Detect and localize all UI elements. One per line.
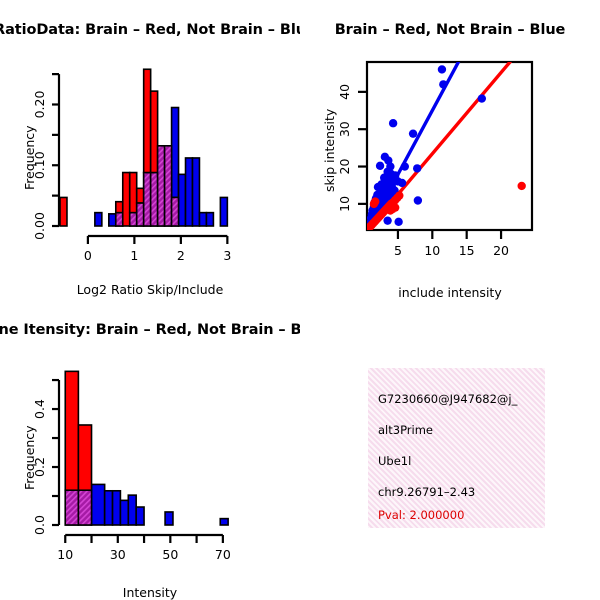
info-line-event: alt3Prime <box>378 423 433 437</box>
y-tick-label: 0.4 <box>32 399 47 419</box>
panel-info: G7230660@J947682@j_ alt3Prime Ube1l chr9… <box>300 300 600 600</box>
x-tick-label: 2 <box>177 248 185 263</box>
histogram-bar <box>120 500 128 525</box>
scatter-point <box>439 80 447 88</box>
histogram-bar-overlap <box>165 146 172 226</box>
scatter-point <box>438 65 446 73</box>
histogram-bar <box>123 173 130 226</box>
histogram-bar-overlap <box>151 173 158 226</box>
intensity-histogram-ylabel: Frequency <box>22 425 37 490</box>
intensity-histogram-title: ne Itensity: Brain – Red, Not Brain – B <box>0 322 300 338</box>
histogram-bar <box>151 91 158 172</box>
x-tick-label: 50 <box>162 547 178 562</box>
histogram-bar <box>220 519 228 525</box>
scatter-point <box>413 164 421 172</box>
scatter-points <box>366 65 526 230</box>
histogram-bar <box>137 188 144 203</box>
info-line-pval: Pval: 2.000000 <box>378 508 464 522</box>
ratio-histogram-canvas: 0.000.100.200123 <box>0 0 300 300</box>
intensity-histogram-xlabel: Intensity <box>123 585 177 600</box>
scatter-point <box>414 196 422 204</box>
histogram-bar-overlap <box>144 173 151 226</box>
scatter-point <box>386 206 394 214</box>
scatter-ylabel: skip intensity <box>322 109 337 192</box>
histogram-bar <box>165 512 173 525</box>
histogram-bar <box>192 158 199 226</box>
ratio-histogram-bars <box>60 69 227 226</box>
histogram-bar <box>95 213 102 226</box>
x-tick-label: 15 <box>459 243 475 258</box>
x-tick-label: 20 <box>493 243 509 258</box>
histogram-bar <box>186 158 193 226</box>
intensity-histogram-canvas: 0.00.20.410305070 <box>0 300 300 600</box>
scatter-point <box>401 162 409 170</box>
panel-ratio-histogram: RatioData: Brain – Red, Not Brain – Blu … <box>0 0 300 300</box>
y-tick-label: 30 <box>337 121 352 137</box>
histogram-bar <box>128 495 136 525</box>
scatter-point <box>376 162 384 170</box>
scatter-point <box>478 94 486 102</box>
histogram-bar <box>116 202 123 213</box>
histogram-bar <box>206 213 213 226</box>
y-tick-label: 20 <box>337 159 352 175</box>
histogram-bar <box>60 197 67 226</box>
histogram-bar <box>109 214 116 226</box>
info-line-gene: Ube1l <box>378 454 411 468</box>
x-tick-label: 70 <box>215 547 231 562</box>
scatter-point <box>517 182 525 190</box>
histogram-bar <box>130 173 137 213</box>
info-line-locus: chr9.26791–2.43 <box>378 485 475 499</box>
x-tick-label: 10 <box>424 243 440 258</box>
scatter-title: Brain – Red, Not Brain – Blue <box>335 22 566 38</box>
scatter-xlabel: include intensity <box>398 285 501 300</box>
x-tick-label: 10 <box>57 547 73 562</box>
x-tick-label: 0 <box>84 248 92 263</box>
histogram-bar <box>144 69 151 172</box>
histogram-bar <box>136 507 144 525</box>
histogram-bar <box>78 425 91 490</box>
x-tick-label: 5 <box>394 243 402 258</box>
scatter-point <box>366 222 374 230</box>
histogram-bar <box>113 491 121 525</box>
histogram-bar <box>65 371 78 490</box>
scatter-point <box>383 216 391 224</box>
ratio-histogram-title: RatioData: Brain – Red, Not Brain – Blu <box>0 22 300 38</box>
ratio-histogram-ylabel: Frequency <box>22 125 37 190</box>
x-tick-label: 1 <box>130 248 138 263</box>
scatter-point <box>389 119 397 127</box>
y-tick-label: 40 <box>337 84 352 100</box>
histogram-bar-overlap <box>116 213 123 226</box>
histogram-bar-overlap <box>137 203 144 226</box>
info-line-id: G7230660@J947682@j_ <box>378 392 517 406</box>
x-tick-label: 3 <box>223 248 231 263</box>
y-tick-label: 0.20 <box>32 91 47 119</box>
histogram-bar <box>199 213 206 226</box>
ratio-histogram-xlabel: Log2 Ratio Skip/Include <box>77 282 224 297</box>
intensity-histogram-bars <box>65 371 228 525</box>
histogram-bar-overlap <box>78 490 91 525</box>
histogram-bar-overlap <box>65 490 78 525</box>
scatter-canvas: 510152010203040 <box>300 0 600 300</box>
panel-scatter: Brain – Red, Not Brain – Blue 5101520102… <box>300 0 600 300</box>
histogram-bar <box>92 484 105 525</box>
scatter-point <box>394 218 402 226</box>
panel-intensity-histogram: ne Itensity: Brain – Red, Not Brain – B … <box>0 300 300 600</box>
annotation-box: G7230660@J947682@j_ alt3Prime Ube1l chr9… <box>368 368 545 528</box>
histogram-bar <box>179 174 186 226</box>
y-tick-label: 0.0 <box>32 515 47 535</box>
histogram-bar <box>220 197 227 226</box>
scatter-point <box>409 129 417 137</box>
histogram-bar <box>172 108 179 198</box>
y-tick-label: 10 <box>337 196 352 212</box>
histogram-bar-overlap <box>158 146 165 226</box>
histogram-bar <box>105 491 113 525</box>
scatter-point <box>371 197 379 205</box>
x-tick-label: 30 <box>110 547 126 562</box>
scatter-point <box>398 179 406 187</box>
y-tick-label: 0.00 <box>32 212 47 240</box>
histogram-bar-overlap <box>130 213 137 226</box>
histogram-bar-overlap <box>172 197 179 226</box>
